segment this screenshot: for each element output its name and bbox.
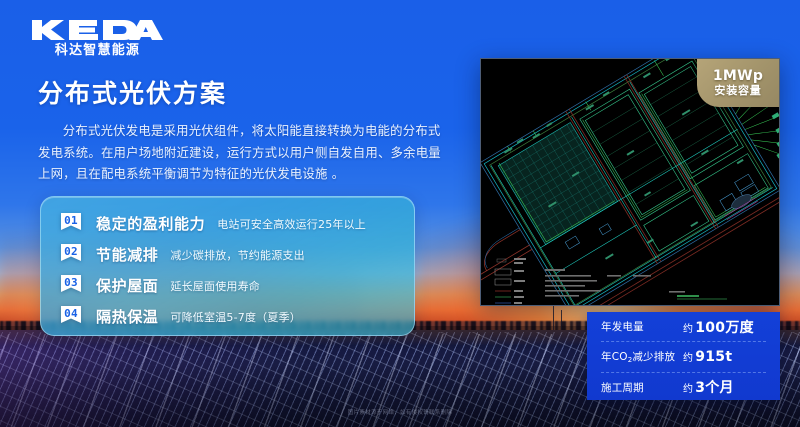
brand-name-cn: 科达智慧能源 [30, 44, 165, 57]
feature-title: 节能减排 [96, 244, 158, 265]
shield-number-icon: 01 [59, 212, 83, 235]
intro-paragraph: 分布式光伏发电是采用光伏组件，将太阳能直接转换为电能的分布式发电系统。在用户场地… [38, 120, 443, 185]
stat-prefix: 约 [683, 353, 693, 364]
stat-row-annual-generation: 年发电量 约100万度 [601, 312, 766, 342]
shield-number-icon: 04 [59, 305, 83, 328]
stat-label-head: 年CO [601, 351, 628, 363]
capacity-label: 安装容量 [714, 84, 761, 98]
feature-number: 01 [59, 214, 83, 227]
stat-value: 约915t [683, 349, 732, 365]
stat-number: 915t [695, 349, 732, 365]
stat-label: 施工周期 [601, 380, 683, 395]
feature-number: 03 [59, 276, 83, 289]
feature-description: 电站可安全高效运行25年以上 [217, 216, 366, 232]
feature-item-04[interactable]: 04 隔热保温 可降低室温5-7度（夏季） [41, 301, 414, 332]
shield-number-icon: 03 [59, 274, 83, 297]
stat-label-tail: 减少排放 [632, 351, 675, 363]
stat-prefix: 约 [683, 384, 693, 395]
feature-title: 隔热保温 [96, 306, 158, 327]
background-pylon-1 [553, 306, 554, 330]
feature-title: 稳定的盈利能力 [96, 213, 205, 234]
stat-row-co2-reduction: 年CO2减少排放 约915t [601, 342, 766, 372]
feature-title: 保护屋面 [96, 275, 158, 296]
stat-label: 年CO2减少排放 [601, 349, 683, 364]
feature-list-card: 01 稳定的盈利能力 电站可安全高效运行25年以上 02 节能减排 减少碳排放，… [40, 196, 415, 336]
feature-number: 02 [59, 245, 83, 258]
stat-number: 100万度 [695, 320, 754, 336]
slide-root: 科达智慧能源 分布式光伏方案 分布式光伏发电是采用光伏组件，将太阳能直接转换为电… [0, 0, 800, 427]
feature-item-02[interactable]: 02 节能减排 减少碳排放，节约能源支出 [41, 239, 414, 270]
stat-value: 约3个月 [683, 377, 734, 397]
feature-description: 可降低室温5-7度（夏季） [170, 309, 301, 325]
feature-description: 减少碳排放，节约能源支出 [170, 247, 304, 263]
page-title: 分布式光伏方案 [38, 74, 227, 110]
stat-prefix: 约 [683, 324, 693, 335]
capacity-badge: 1MWp 安装容量 [697, 59, 779, 107]
feature-item-03[interactable]: 03 保护屋面 延长屋面使用寿命 [41, 270, 414, 301]
background-pylon-2 [561, 310, 562, 330]
cad-drawing-panel[interactable]: 1MWp 安装容量 [480, 58, 780, 306]
keda-wordmark-logo-icon [30, 18, 165, 42]
capacity-value: 1MWp [713, 68, 763, 84]
feature-description: 延长屋面使用寿命 [170, 278, 260, 294]
shield-number-icon: 02 [59, 243, 83, 266]
brand-logo: 科达智慧能源 [30, 18, 165, 57]
stat-row-construction-period: 施工周期 约3个月 [601, 373, 766, 402]
stat-label: 年发电量 [601, 319, 683, 334]
footer-disclaimer: 图片素材源于网络，如有侵权请联系删除 [0, 408, 800, 416]
feature-number: 04 [59, 307, 83, 320]
stats-panel: 年发电量 约100万度 年CO2减少排放 约915t 施工周期 约3个月 [587, 312, 780, 400]
stat-number: 3个月 [695, 380, 734, 396]
stat-label-subscript: 2 [628, 356, 633, 364]
feature-item-01[interactable]: 01 稳定的盈利能力 电站可安全高效运行25年以上 [41, 208, 414, 239]
stat-value: 约100万度 [683, 317, 754, 337]
